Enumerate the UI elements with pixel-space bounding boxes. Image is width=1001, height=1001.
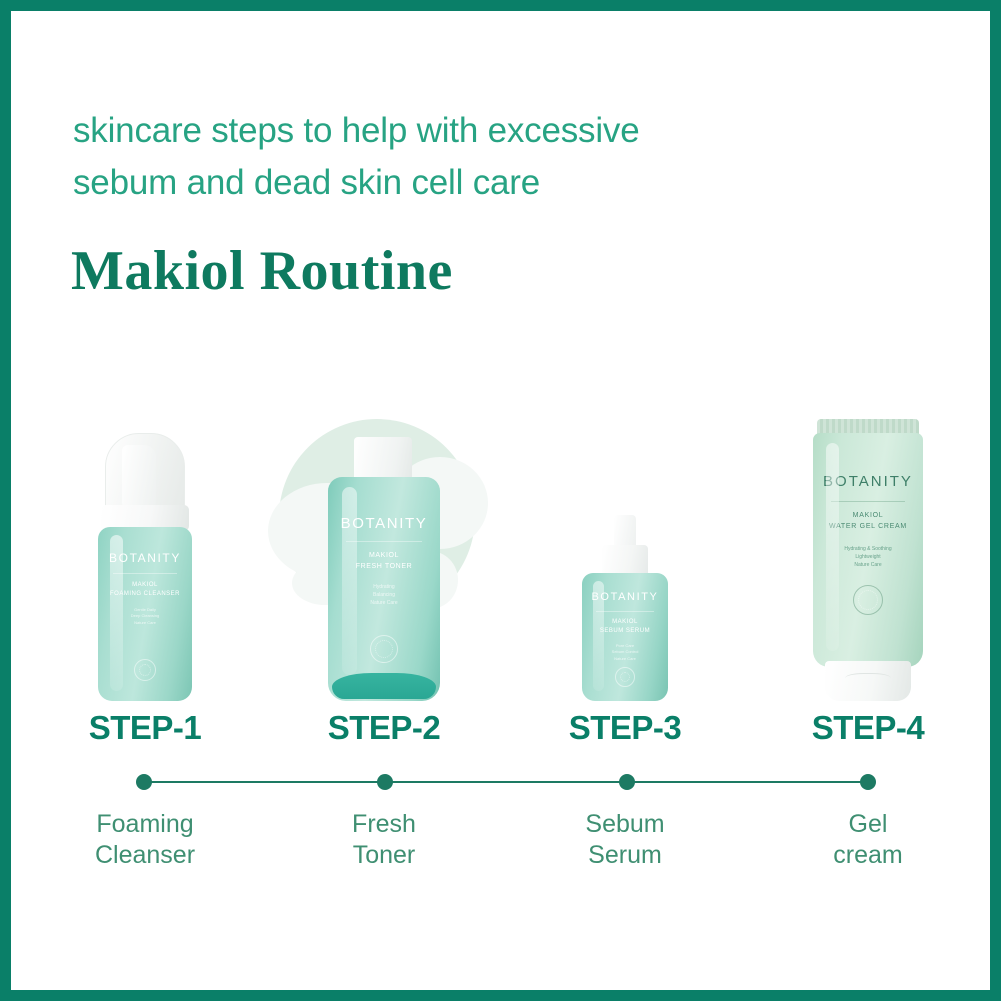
infographic-frame: skincare steps to help with excessive se… (0, 0, 1001, 1001)
product-brand-3: BOTANITY (582, 591, 668, 603)
foaming-cleanser-bottle: BOTANITY MAKIOL FOAMING CLEANSER Gentle … (96, 433, 194, 701)
timeline-dot-2 (377, 774, 393, 790)
product-name-line1-3: MAKIOL (582, 618, 668, 627)
product-name-line1-1: MAKIOL (98, 581, 192, 590)
seal-badge-1 (134, 659, 156, 681)
timeline-dot-4 (860, 774, 876, 790)
caption-1: Foaming Cleanser (35, 809, 255, 871)
timeline-dot-3 (619, 774, 635, 790)
product-name-line1-4: MAKIOL (813, 511, 923, 522)
product-slot-3: BOTANITY MAKIOL SEBUM SERUM Pore Care Se… (515, 371, 735, 701)
label-divider-3 (596, 611, 655, 612)
bottle-body: BOTANITY MAKIOL FOAMING CLEANSER Gentle … (98, 527, 192, 701)
step-label-2: STEP-2 (274, 709, 494, 747)
timeline-rail (144, 781, 868, 783)
product-brand-1: BOTANITY (98, 551, 192, 565)
bottle-body: BOTANITY MAKIOL SEBUM SERUM Pore Care Se… (582, 573, 668, 701)
caption-2: Fresh Toner (274, 809, 494, 871)
step-label-1: STEP-1 (35, 709, 255, 747)
caption-3: Sebum Serum (515, 809, 735, 871)
timeline-dot-1 (136, 774, 152, 790)
toner-cap (354, 437, 412, 481)
tube-body: BOTANITY MAKIOL WATER GEL CREAM Hydratin… (813, 433, 923, 667)
pump-head (122, 445, 156, 507)
seal-badge-3 (615, 667, 635, 687)
step-label-4: STEP-4 (758, 709, 978, 747)
product-slot-2: BOTANITY MAKIOL FRESH TONER Hydrating Ba… (274, 371, 494, 701)
product-name-line2-2: FRESH TONER (328, 562, 440, 573)
seal-badge-4 (853, 585, 883, 615)
sebum-serum-bottle: BOTANITY MAKIOL SEBUM SERUM Pore Care Se… (582, 515, 668, 701)
gel-cream-tube: BOTANITY MAKIOL WATER GEL CREAM Hydratin… (813, 419, 923, 701)
product-brand-4: BOTANITY (813, 473, 923, 490)
infographic-canvas: skincare steps to help with excessive se… (11, 11, 990, 990)
product-name-line2-3: SEBUM SERUM (582, 627, 668, 636)
tube-flip-cap (825, 661, 911, 701)
product-stage: BOTANITY MAKIOL FOAMING CLEANSER Gentle … (11, 371, 990, 701)
product-slot-4: BOTANITY MAKIOL WATER GEL CREAM Hydratin… (758, 371, 978, 701)
bottle-body: BOTANITY MAKIOL FRESH TONER Hydrating Ba… (328, 477, 440, 701)
product-desc-1: Gentle Daily Deep Cleansing Nature Care (98, 607, 192, 626)
subtitle-text: skincare steps to help with excessive se… (73, 105, 773, 209)
product-slot-1: BOTANITY MAKIOL FOAMING CLEANSER Gentle … (35, 371, 255, 701)
fresh-toner-bottle: BOTANITY MAKIOL FRESH TONER Hydrating Ba… (328, 437, 440, 701)
product-desc-3: Pore Care Sebum Control Nature Care (582, 643, 668, 662)
step-label-3: STEP-3 (515, 709, 735, 747)
product-desc-4: Hydrating & Soothing Lightweight Nature … (813, 545, 923, 569)
page-title: Makiol Routine (71, 239, 453, 303)
product-brand-2: BOTANITY (328, 515, 440, 532)
product-desc-2: Hydrating Balancing Nature Care (328, 583, 440, 607)
dropper-stem (614, 515, 636, 549)
toner-liquid-base (332, 673, 436, 699)
label-divider-2 (346, 541, 422, 542)
product-name-line1-2: MAKIOL (328, 551, 440, 562)
label-divider-4 (831, 501, 906, 502)
caption-4: Gel cream (758, 809, 978, 871)
product-name-line2-4: WATER GEL CREAM (813, 522, 923, 533)
product-name-line2-1: FOAMING CLEANSER (98, 590, 192, 599)
label-divider-1 (113, 573, 177, 574)
seal-badge-2 (370, 635, 398, 663)
